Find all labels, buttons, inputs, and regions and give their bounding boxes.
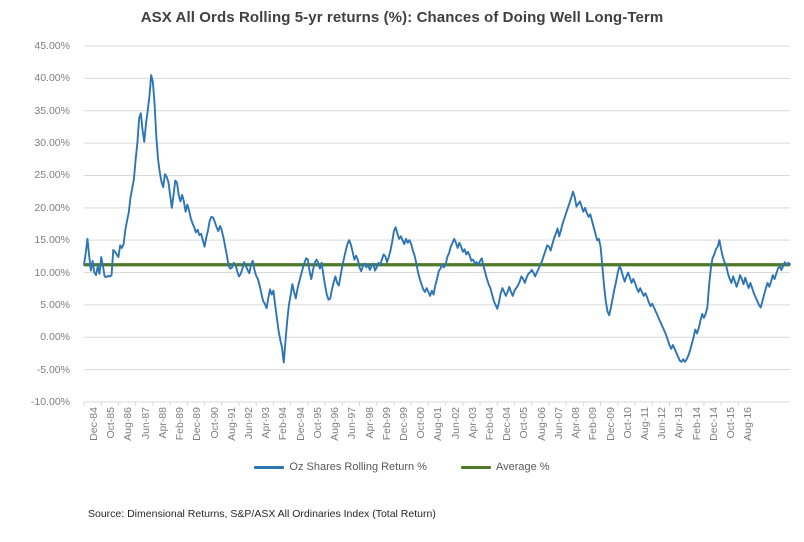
- y-axis-tick-label: 45.00%: [34, 40, 70, 52]
- chart-container: ASX All Ords Rolling 5-yr returns (%): C…: [0, 0, 804, 542]
- legend-item-series[interactable]: Oz Shares Rolling Return %: [254, 461, 427, 473]
- x-axis-tick-label: Aug-91: [226, 407, 238, 441]
- y-axis-tick-label: 35.00%: [34, 105, 70, 117]
- x-axis-tick-label: Apr-03: [467, 407, 479, 439]
- x-axis-tick-label: Apr-98: [364, 407, 376, 439]
- x-axis-tick-label: Oct-10: [622, 407, 634, 439]
- x-axis-tick-label: Oct-90: [209, 407, 221, 439]
- chart-title: ASX All Ords Rolling 5-yr returns (%): C…: [0, 9, 804, 26]
- x-axis-tick-label: Feb-94: [277, 407, 289, 440]
- source-note: Source: Dimensional Returns, S&P/ASX All…: [88, 508, 436, 520]
- x-axis-tick-label: Jun-02: [450, 407, 462, 439]
- y-axis-tick-label: 30.00%: [34, 137, 70, 149]
- y-axis-tick-label: 0.00%: [40, 331, 70, 343]
- legend-item-average[interactable]: Average %: [461, 461, 550, 473]
- x-axis-tick-label: Dec-99: [398, 407, 410, 441]
- x-axis-tick-label: Oct-15: [725, 407, 737, 439]
- x-axis-tick-label: Dec-89: [191, 407, 203, 441]
- chart-legend: Oz Shares Rolling Return % Average %: [0, 461, 804, 473]
- x-axis-tick-label: Feb-99: [381, 407, 393, 440]
- x-axis-tick-label: Aug-86: [122, 407, 134, 441]
- x-axis-tick-label: Apr-93: [260, 407, 272, 439]
- y-axis-tick-label: 10.00%: [34, 267, 70, 279]
- plot-svg: [84, 46, 790, 402]
- legend-label-average: Average %: [496, 461, 550, 473]
- plot-area: [84, 46, 790, 402]
- x-axis-tick-label: Feb-89: [174, 407, 186, 440]
- x-axis-tick-label: Aug-16: [742, 407, 754, 441]
- x-axis-tick-label: Apr-08: [570, 407, 582, 439]
- x-axis-tick-label: Feb-04: [484, 407, 496, 440]
- x-axis-tick-label: Oct-95: [312, 407, 324, 439]
- x-axis-tick-label: Feb-14: [691, 407, 703, 440]
- series-line-oz-shares: [84, 75, 790, 362]
- x-axis-tick-label: Apr-88: [157, 407, 169, 439]
- x-axis-tick-label: Aug-06: [536, 407, 548, 441]
- x-axis-tick-label: Aug-11: [639, 407, 651, 440]
- x-axis-tick-label: Jun-07: [553, 407, 565, 439]
- y-axis-tick-label: 25.00%: [34, 169, 70, 181]
- legend-swatch-average: [461, 466, 491, 469]
- x-axis-tick-label: Dec-09: [605, 407, 617, 441]
- y-axis-tick-label: 20.00%: [34, 202, 70, 214]
- x-axis-tick-label: Oct-85: [105, 407, 117, 439]
- x-axis-tick-label: Jun-97: [346, 407, 358, 439]
- legend-label-series: Oz Shares Rolling Return %: [289, 461, 427, 473]
- x-axis-tick-label: Oct-05: [518, 407, 530, 439]
- x-axis-tick-label: Dec-14: [708, 407, 720, 441]
- x-axis-tick-label: Aug-96: [329, 407, 341, 441]
- x-axis-tick-label: Feb-09: [587, 407, 599, 440]
- x-axis: Dec-84Oct-85Aug-86Jun-87Apr-88Feb-89Dec-…: [84, 404, 790, 462]
- x-axis-tick-label: Dec-94: [295, 407, 307, 441]
- x-axis-tick-label: Oct-00: [415, 407, 427, 439]
- y-axis: 45.00%40.00%35.00%30.00%25.00%20.00%15.0…: [0, 46, 78, 402]
- y-axis-tick-label: -10.00%: [31, 396, 70, 408]
- x-axis-tick-label: Jun-92: [243, 407, 255, 439]
- x-axis-tick-label: Dec-84: [88, 407, 100, 441]
- y-axis-tick-label: -5.00%: [37, 364, 70, 376]
- y-axis-tick-label: 40.00%: [34, 72, 70, 84]
- y-axis-tick-label: 5.00%: [40, 299, 70, 311]
- x-axis-tick-label: Aug-01: [432, 407, 444, 441]
- x-axis-tick-label: Apr-13: [673, 407, 685, 439]
- y-axis-tick-label: 15.00%: [34, 234, 70, 246]
- x-axis-tick-label: Jun-87: [140, 407, 152, 439]
- x-axis-tick-label: Dec-04: [501, 407, 513, 441]
- legend-swatch-series: [254, 466, 284, 469]
- x-axis-tick-label: Jun-12: [656, 407, 668, 439]
